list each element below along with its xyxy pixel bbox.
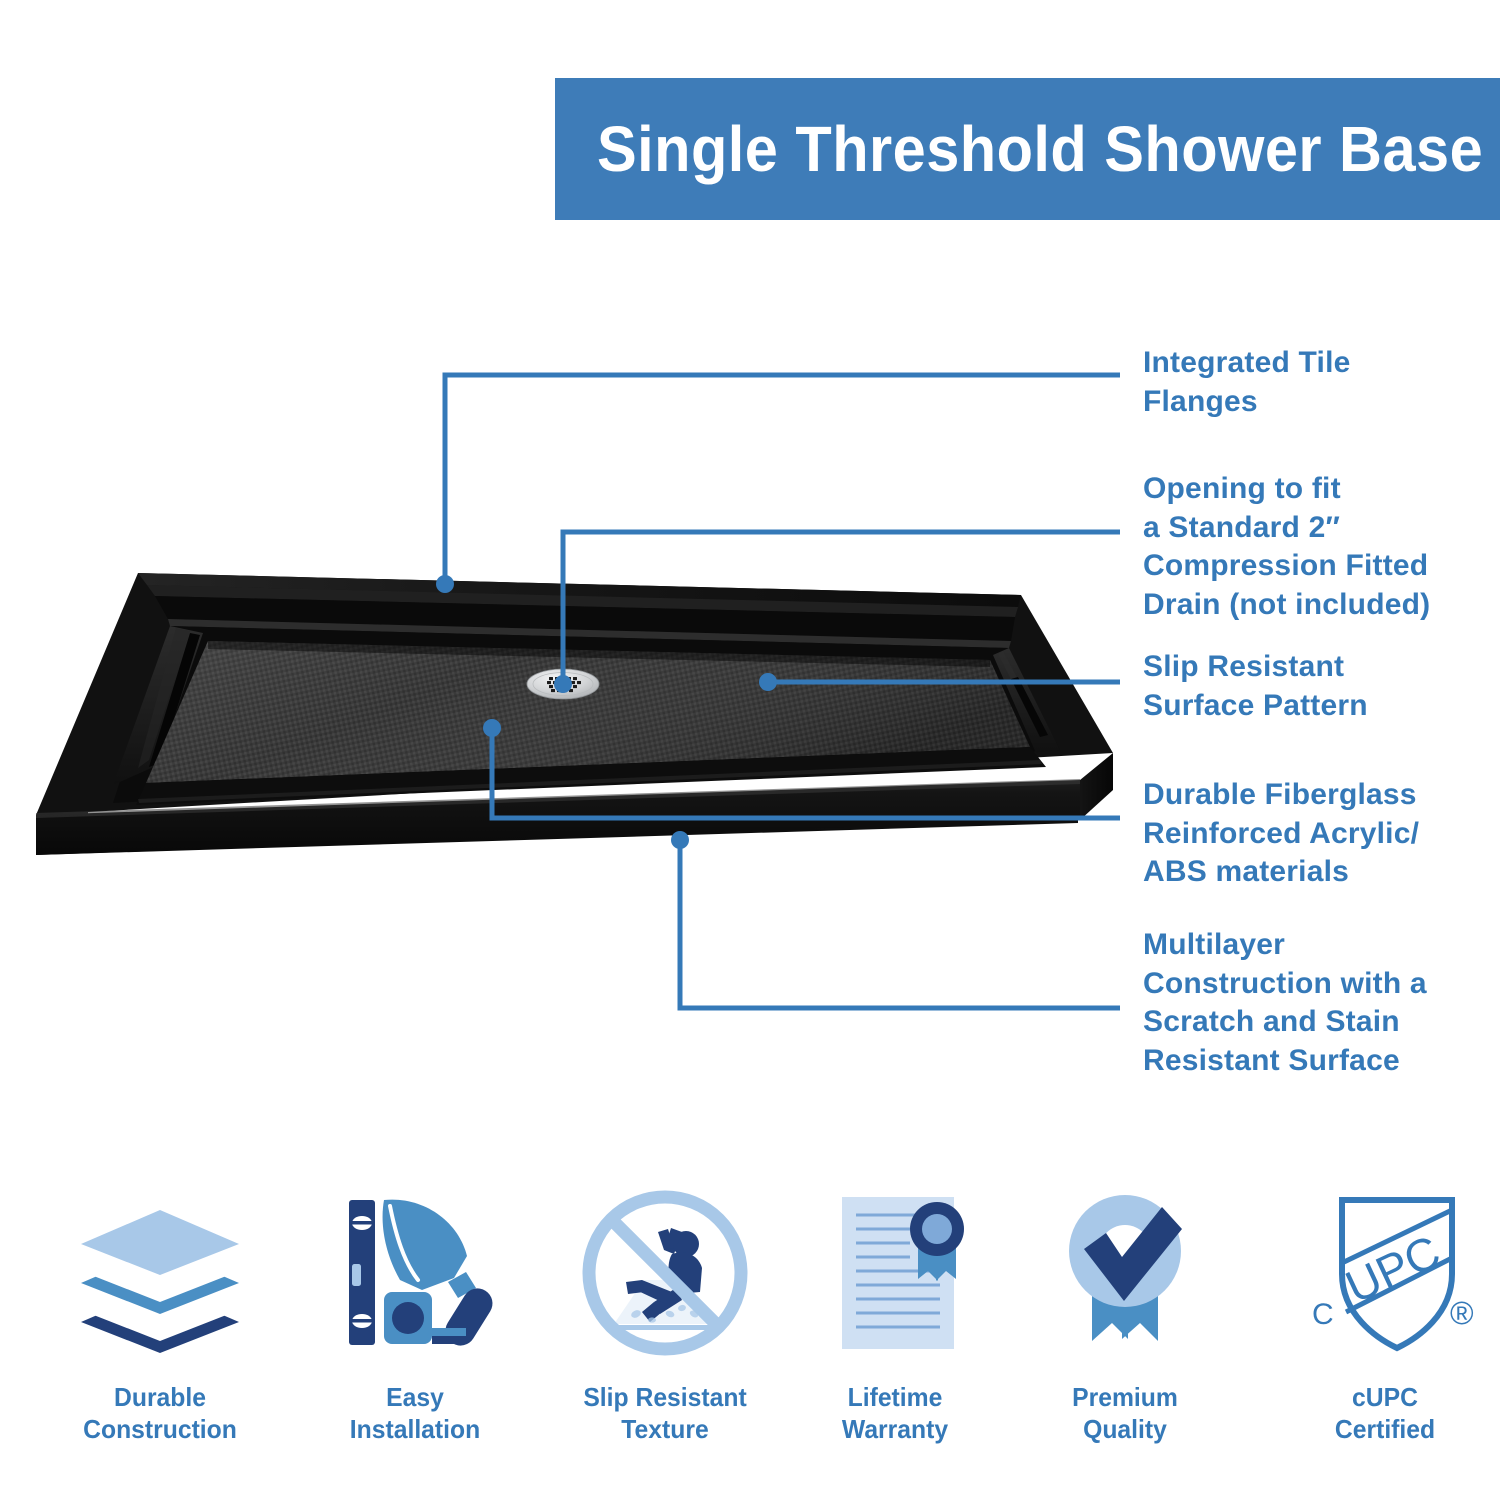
feature-easy-installation: Easy Installation — [300, 1185, 530, 1445]
feature-label-line: Lifetime — [786, 1382, 1005, 1414]
callout-line: Surface Pattern — [1143, 687, 1473, 726]
callout-line: Multilayer — [1143, 926, 1473, 965]
infographic-canvas: Single Threshold Shower Base — [0, 0, 1500, 1500]
feature-cupc-certified: UPC C ® cUPC Certified — [1270, 1185, 1500, 1445]
callout-slip-resistant-surface: Slip Resistant Surface Pattern — [1143, 648, 1473, 725]
feature-label-line: Certified — [1276, 1414, 1495, 1446]
callout-line: Integrated Tile — [1143, 344, 1473, 383]
warranty-document-icon — [780, 1185, 1010, 1360]
callout-durable-materials: Durable Fiberglass Reinforced Acrylic/ A… — [1143, 776, 1473, 892]
feature-label-line: Durable — [51, 1382, 270, 1414]
quality-ribbon-icon — [1010, 1185, 1240, 1360]
layers-icon — [45, 1185, 275, 1360]
callout-line: Drain (not included) — [1143, 586, 1473, 625]
shower-base-illustration — [18, 555, 1118, 875]
no-slip-icon — [550, 1185, 780, 1360]
callout-line: Scratch and Stain — [1143, 1003, 1473, 1042]
feature-label-line: Installation — [306, 1414, 525, 1446]
feature-label-line: Easy — [306, 1382, 525, 1414]
feature-premium-quality: Premium Quality — [1010, 1185, 1240, 1445]
cupc-left-mark: C — [1312, 1298, 1334, 1331]
callout-line: Slip Resistant — [1143, 648, 1473, 687]
callout-line: Opening to fit — [1143, 470, 1473, 509]
feature-label-line: Warranty — [786, 1414, 1005, 1446]
cupc-registered-mark: ® — [1450, 1295, 1474, 1331]
cupc-shield-icon: UPC C ® — [1270, 1185, 1500, 1360]
feature-label: Easy Installation — [306, 1382, 525, 1445]
callout-line: Construction with a — [1143, 965, 1473, 1004]
feature-label: Slip Resistant Texture — [556, 1382, 775, 1445]
callout-drain-opening: Opening to fit a Standard 2″ Compression… — [1143, 470, 1473, 625]
leader-line-integrated-tile-flanges — [445, 375, 1120, 584]
shower-base-svg — [18, 555, 1118, 875]
callout-line: Reinforced Acrylic/ — [1143, 815, 1473, 854]
feature-label-line: cUPC — [1276, 1382, 1495, 1414]
feature-label: Durable Construction — [51, 1382, 270, 1445]
feature-label: Premium Quality — [1016, 1382, 1235, 1445]
callout-integrated-tile-flanges: Integrated Tile Flanges — [1143, 344, 1473, 421]
feature-label-line: Premium — [1016, 1382, 1235, 1414]
feature-label-line: Slip Resistant — [556, 1382, 775, 1414]
feature-label: Lifetime Warranty — [786, 1382, 1005, 1445]
callout-line: Resistant Surface — [1143, 1042, 1473, 1081]
feature-label-line: Texture — [556, 1414, 775, 1446]
feature-slip-resistant-texture: Slip Resistant Texture — [550, 1185, 780, 1445]
feature-label-line: Quality — [1016, 1414, 1235, 1446]
feature-durable-construction: Durable Construction — [45, 1185, 275, 1445]
callout-line: Flanges — [1143, 383, 1473, 422]
callout-multilayer-construction: Multilayer Construction with a Scratch a… — [1143, 926, 1473, 1081]
callout-line: Compression Fitted — [1143, 547, 1473, 586]
callout-line: ABS materials — [1143, 853, 1473, 892]
title-banner: Single Threshold Shower Base — [555, 78, 1500, 220]
callout-line: a Standard 2″ — [1143, 509, 1473, 548]
drain-assembly — [527, 669, 599, 699]
feature-lifetime-warranty: Lifetime Warranty — [780, 1185, 1010, 1445]
feature-label-line: Construction — [51, 1414, 270, 1446]
level-trowel-icon — [300, 1185, 530, 1360]
page-title: Single Threshold Shower Base — [597, 112, 1483, 186]
callout-line: Durable Fiberglass — [1143, 776, 1473, 815]
feature-label: cUPC Certified — [1276, 1382, 1495, 1445]
